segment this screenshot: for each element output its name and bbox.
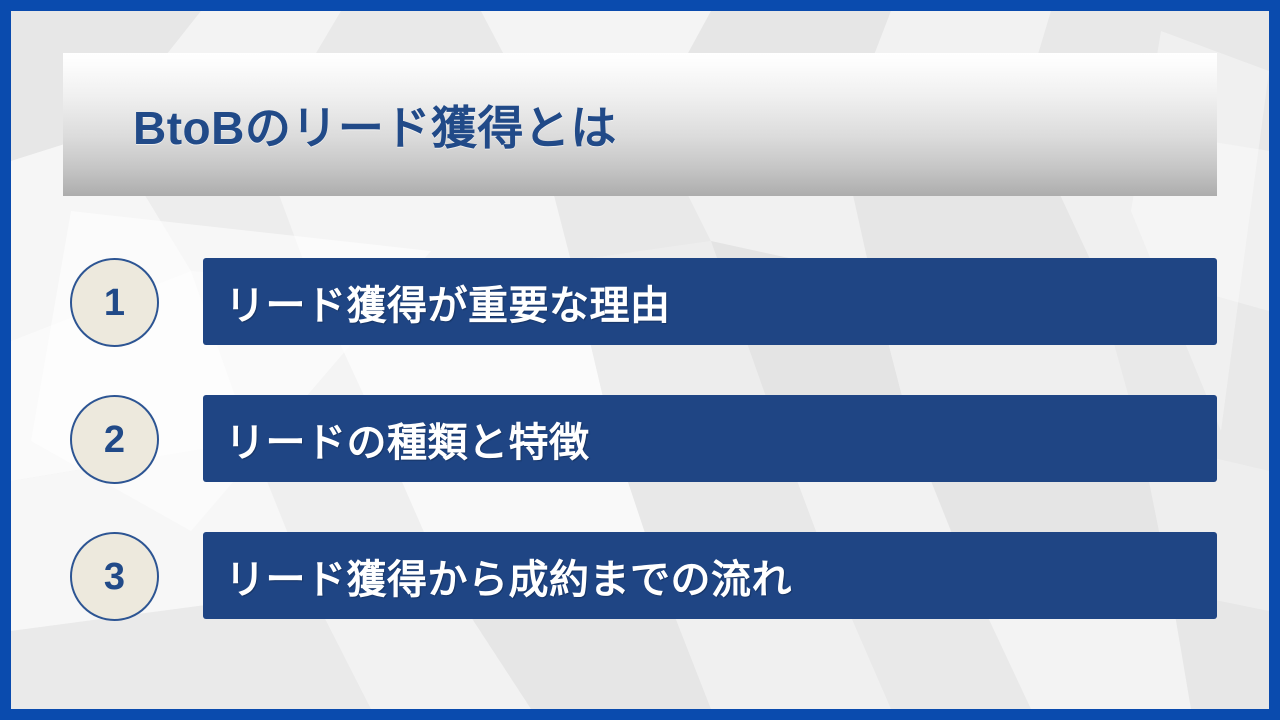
item-number-badge: 3 xyxy=(70,532,159,621)
item-bar[interactable]: リード獲得から成約までの流れ xyxy=(203,532,1217,619)
list-item[interactable]: 1 リード獲得が重要な理由 xyxy=(70,258,1217,347)
item-label: リード獲得から成約までの流れ xyxy=(203,547,792,605)
title-banner: BtoBのリード獲得とは xyxy=(63,53,1217,196)
item-number-badge: 2 xyxy=(70,395,159,484)
list-item[interactable]: 3 リード獲得から成約までの流れ xyxy=(70,532,1217,621)
item-label: リードの種類と特徴 xyxy=(203,410,590,468)
list-item[interactable]: 2 リードの種類と特徴 xyxy=(70,395,1217,484)
slide-canvas: BtoBのリード獲得とは 1 リード獲得が重要な理由 2 リードの種類と特徴 3… xyxy=(11,11,1269,709)
item-bar[interactable]: リードの種類と特徴 xyxy=(203,395,1217,482)
item-number-badge: 1 xyxy=(70,258,159,347)
page-title: BtoBのリード獲得とは xyxy=(133,53,617,196)
item-label: リード獲得が重要な理由 xyxy=(203,273,671,331)
item-bar[interactable]: リード獲得が重要な理由 xyxy=(203,258,1217,345)
slide: BtoBのリード獲得とは 1 リード獲得が重要な理由 2 リードの種類と特徴 3… xyxy=(0,0,1280,720)
